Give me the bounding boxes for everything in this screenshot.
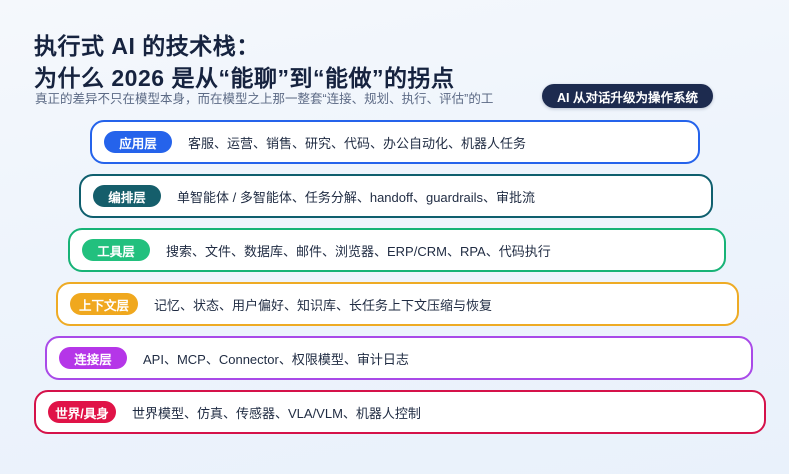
layer-row: 上下文层记忆、状态、用户偏好、知识库、长任务上下文压缩与恢复: [56, 282, 739, 326]
layer-row: 应用层客服、运营、销售、研究、代码、办公自动化、机器人任务: [90, 120, 700, 164]
header: 执行式 AI 的技术栈： 为什么 2026 是从“能聊”到“能做”的拐点 真正的…: [0, 0, 789, 112]
layer-badge: 连接层: [59, 347, 127, 369]
layer-items: 世界模型、仿真、传感器、VLA/VLM、机器人控制: [132, 403, 421, 422]
layer-row: 工具层搜索、文件、数据库、邮件、浏览器、ERP/CRM、RPA、代码执行: [68, 228, 726, 272]
header-tagline-badge: AI 从对话升级为操作系统: [542, 84, 713, 108]
layer-row: 世界/具身世界模型、仿真、传感器、VLA/VLM、机器人控制: [34, 390, 766, 434]
layer-badge: 编排层: [93, 185, 161, 207]
layer-badge: 上下文层: [70, 293, 138, 315]
layer-items: API、MCP、Connector、权限模型、审计日志: [143, 349, 409, 368]
page-subtitle: 真正的差异不只在模型本身，而在模型之上那一整套“连接、规划、执行、评估”的工: [35, 88, 595, 107]
layer-items: 搜索、文件、数据库、邮件、浏览器、ERP/CRM、RPA、代码执行: [166, 241, 551, 260]
layer-items: 客服、运营、销售、研究、代码、办公自动化、机器人任务: [188, 133, 526, 152]
layer-badge: 工具层: [82, 239, 150, 261]
layer-badge: 世界/具身: [48, 401, 116, 423]
layer-row: 连接层API、MCP、Connector、权限模型、审计日志: [45, 336, 753, 380]
layer-badge: 应用层: [104, 131, 172, 153]
page-title-line1: 执行式 AI 的技术栈：: [34, 27, 260, 61]
tech-stack-diagram: 应用层客服、运营、销售、研究、代码、办公自动化、机器人任务编排层单智能体 / 多…: [0, 112, 789, 442]
layer-items: 记忆、状态、用户偏好、知识库、长任务上下文压缩与恢复: [154, 295, 492, 314]
layer-row: 编排层单智能体 / 多智能体、任务分解、handoff、guardrails、审…: [79, 174, 713, 218]
layer-items: 单智能体 / 多智能体、任务分解、handoff、guardrails、审批流: [177, 187, 535, 206]
